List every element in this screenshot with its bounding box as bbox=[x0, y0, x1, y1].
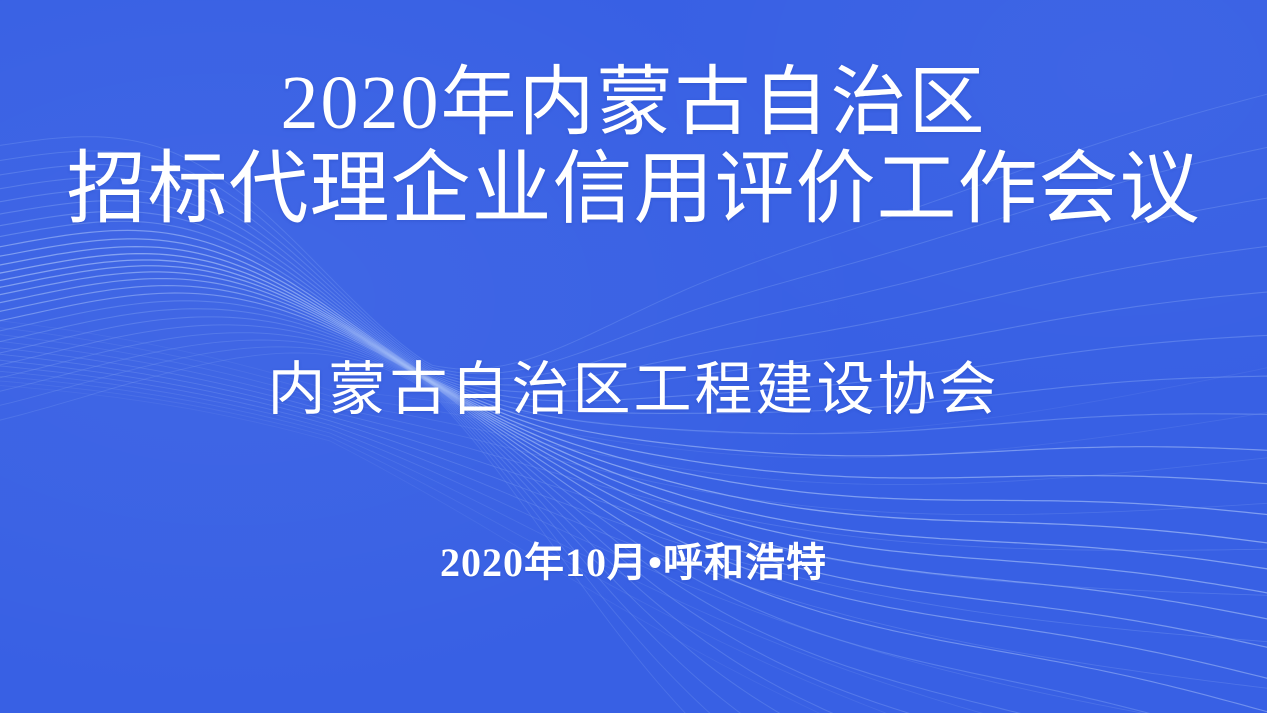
title-line-2: 招标代理企业信用评价工作会议 bbox=[67, 146, 1201, 234]
slide-content: 2020年内蒙古自治区 招标代理企业信用评价工作会议 内蒙古自治区工程建设协会 … bbox=[0, 0, 1267, 713]
organization-name: 内蒙古自治区工程建设协会 bbox=[267, 342, 999, 426]
title-line-1: 2020年内蒙古自治区 bbox=[67, 62, 1201, 146]
title-slide: 2020年内蒙古自治区 招标代理企业信用评价工作会议 内蒙古自治区工程建设协会 … bbox=[0, 0, 1267, 713]
date-location: 2020年10月•呼和浩特 bbox=[440, 530, 827, 588]
page-title: 2020年内蒙古自治区 招标代理企业信用评价工作会议 bbox=[67, 62, 1201, 234]
